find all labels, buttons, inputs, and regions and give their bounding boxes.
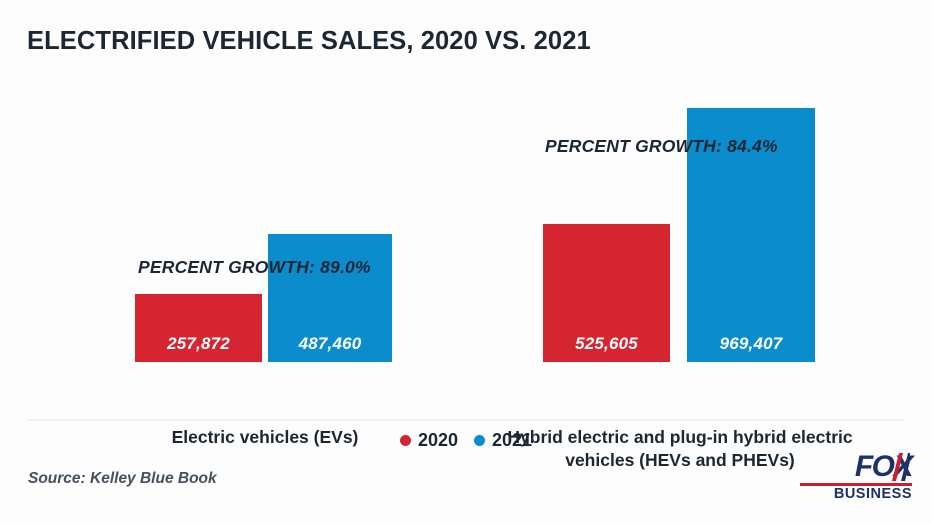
legend-dot-icon — [400, 435, 411, 446]
plot-area: 257,872 487,460 525,605 969,407 PERCENT … — [0, 60, 932, 362]
legend-item-2020[interactable]: 2020 — [400, 430, 458, 451]
logo-slash-icon — [890, 453, 910, 481]
bar-value-label: 525,605 — [543, 334, 670, 354]
source-note: Source: Kelley Blue Book — [28, 470, 217, 488]
bar-group-hybrid-vehicles: 525,605 969,407 — [543, 62, 815, 362]
legend-item-2021[interactable]: 2021 — [474, 430, 532, 451]
axis-baseline — [28, 419, 904, 421]
logo-business-text: BUSINESS — [800, 487, 912, 502]
legend-label: 2020 — [418, 430, 458, 451]
fox-business-logo: FOX BUSINESS — [800, 452, 912, 502]
growth-annotation-hybrid-vehicles: PERCENT GROWTH: 84.4% — [545, 136, 778, 157]
bar-value-label: 487,460 — [268, 334, 392, 354]
bar-group-electric-vehicles: 257,872 487,460 — [135, 62, 392, 362]
bar-2020-hybrid-vehicles[interactable]: 525,605 — [543, 224, 670, 362]
bar-value-label: 969,407 — [687, 334, 815, 354]
growth-annotation-electric-vehicles: PERCENT GROWTH: 89.0% — [138, 257, 371, 278]
chart-container: ELECTRIFIED VEHICLE SALES, 2020 VS. 2021… — [0, 0, 932, 524]
bar-2020-electric-vehicles[interactable]: 257,872 — [135, 294, 262, 362]
legend-dot-icon — [474, 435, 485, 446]
bar-2021-electric-vehicles[interactable]: 487,460 — [268, 234, 392, 362]
bar-value-label: 257,872 — [135, 334, 262, 354]
chart-legend: 2020 2021 — [0, 430, 932, 451]
legend-label: 2021 — [492, 430, 532, 451]
chart-title: ELECTRIFIED VEHICLE SALES, 2020 VS. 2021 — [27, 27, 591, 56]
